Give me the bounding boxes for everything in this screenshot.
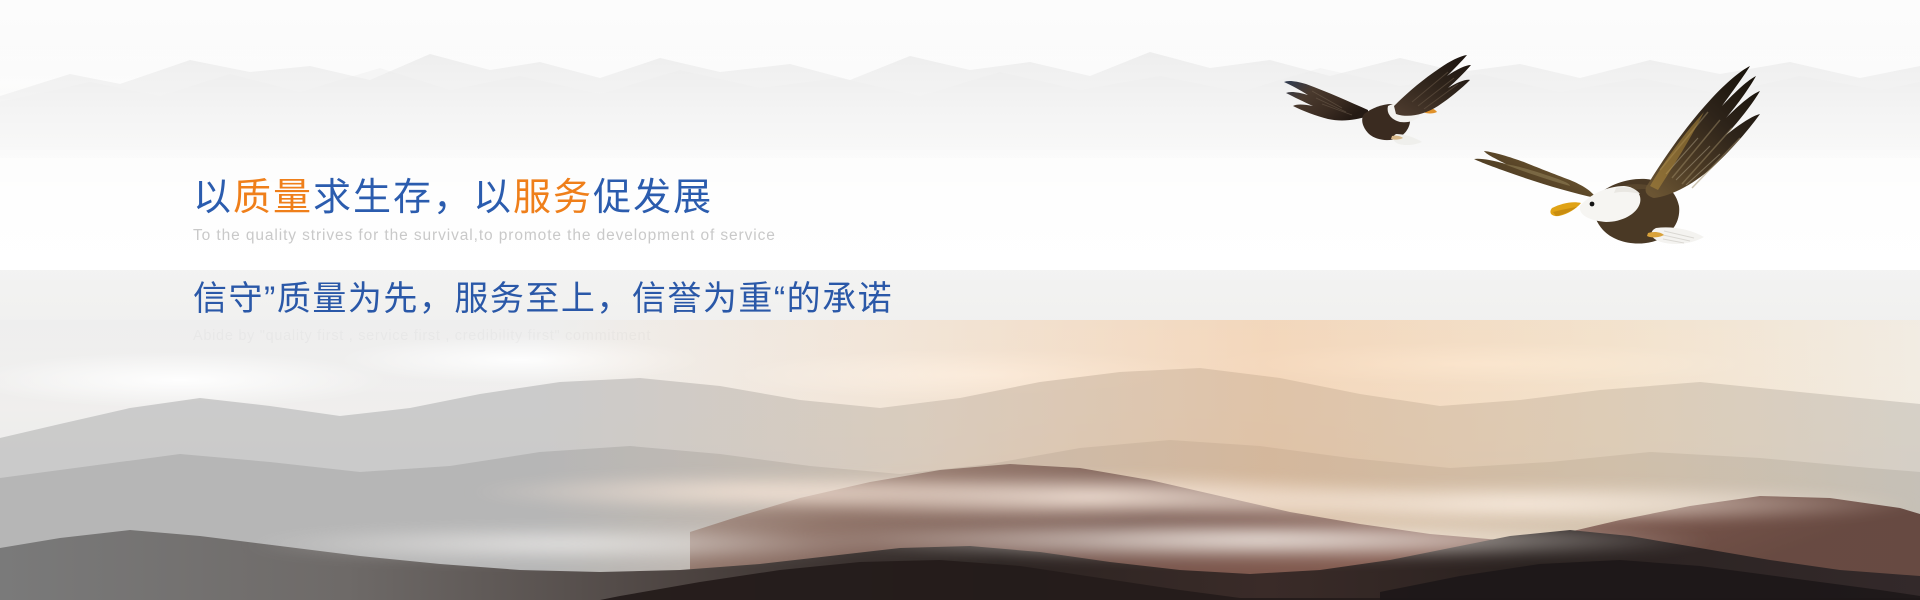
slogan-2-chinese: 信守”质量为先，服务至上，信誉为重“的承诺 — [193, 279, 1193, 319]
slogan-1-seg-1: 质量 — [233, 177, 313, 219]
eagle-icon — [1420, 28, 1810, 258]
slogan-block: 以质量求生存，以服务促发展 To the quality strives for… — [193, 176, 1193, 344]
slogan-1-seg-2: 求生存，以 — [313, 177, 513, 219]
slogan-1-seg-0: 以 — [193, 177, 233, 219]
slogan-1-chinese: 以质量求生存，以服务促发展 — [193, 176, 1193, 221]
mountain-landscape-icon — [0, 320, 1920, 600]
ridge-foreground-dark — [0, 320, 1920, 600]
hero-banner: 以质量求生存，以服务促发展 To the quality strives for… — [0, 0, 1920, 600]
slogan-1-seg-4: 促发展 — [593, 177, 713, 219]
slogan-1-seg-3: 服务 — [513, 177, 593, 219]
slogan-1-english: To the quality strives for the survival,… — [193, 227, 1193, 245]
slogan-1: 以质量求生存，以服务促发展 To the quality strives for… — [193, 176, 1193, 245]
